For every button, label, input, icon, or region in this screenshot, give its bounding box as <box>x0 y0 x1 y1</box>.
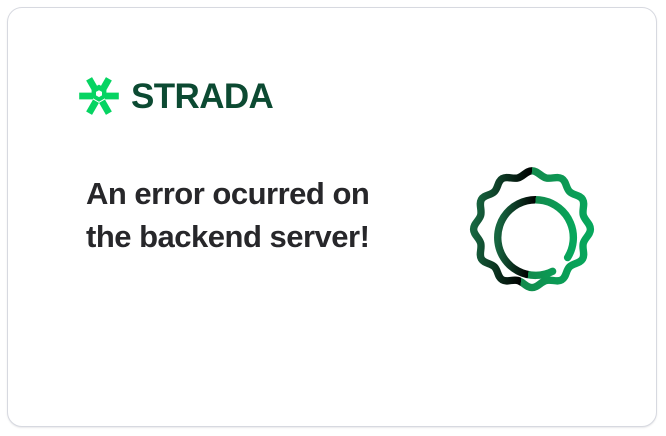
error-message: An error ocurred on the backend server! <box>86 172 386 258</box>
strada-asterisk-icon <box>77 74 121 118</box>
brand-wordmark: STRADA <box>131 79 273 114</box>
error-card: STRADA An error ocurred on the backend s… <box>7 7 657 427</box>
brand-lockup: STRADA <box>77 74 273 118</box>
gear-icon <box>448 145 616 313</box>
error-screen: STRADA An error ocurred on the backend s… <box>0 0 666 436</box>
